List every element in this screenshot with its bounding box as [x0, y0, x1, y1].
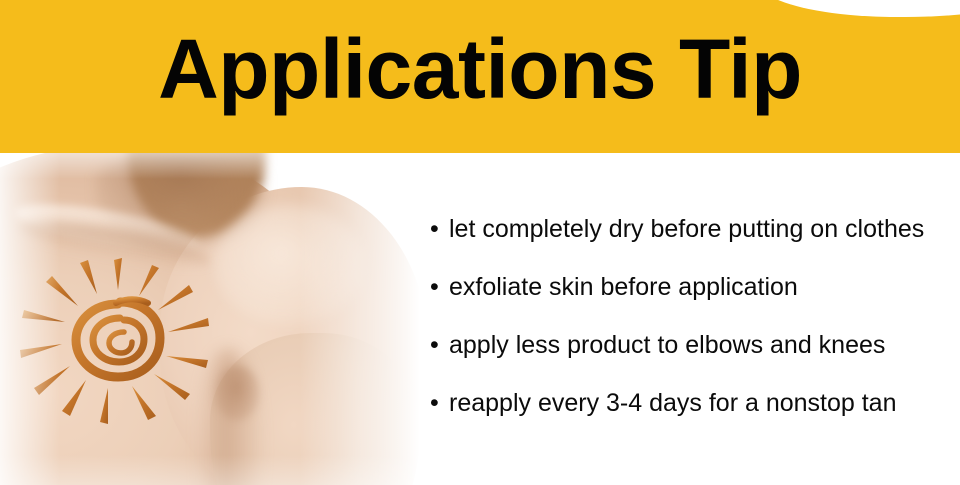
- header-band: Applications Tip: [0, 0, 960, 153]
- tip-text: exfoliate skin before application: [449, 272, 798, 302]
- list-item: • reapply every 3-4 days for a nonstop t…: [430, 388, 950, 446]
- tips-list: • let completely dry before putting on c…: [430, 214, 950, 446]
- bullet-icon: •: [430, 214, 449, 244]
- bullet-icon: •: [430, 330, 449, 360]
- bullet-icon: •: [430, 388, 449, 418]
- list-item: • apply less product to elbows and knees: [430, 330, 950, 388]
- tip-text: apply less product to elbows and knees: [449, 330, 885, 360]
- tanning-photo: [0, 153, 420, 485]
- sun-lotion-drawing-icon: [8, 248, 228, 428]
- list-item: • exfoliate skin before application: [430, 272, 950, 330]
- tip-text: let completely dry before putting on clo…: [449, 214, 924, 244]
- applications-tip-banner: Applications Tip: [0, 0, 960, 485]
- shoulder-highlight: [214, 205, 364, 325]
- list-item: • let completely dry before putting on c…: [430, 214, 950, 272]
- page-title: Applications Tip: [0, 0, 960, 153]
- bullet-icon: •: [430, 272, 449, 302]
- tip-text: reapply every 3-4 days for a nonstop tan: [449, 388, 897, 418]
- sun-rays: [20, 258, 209, 424]
